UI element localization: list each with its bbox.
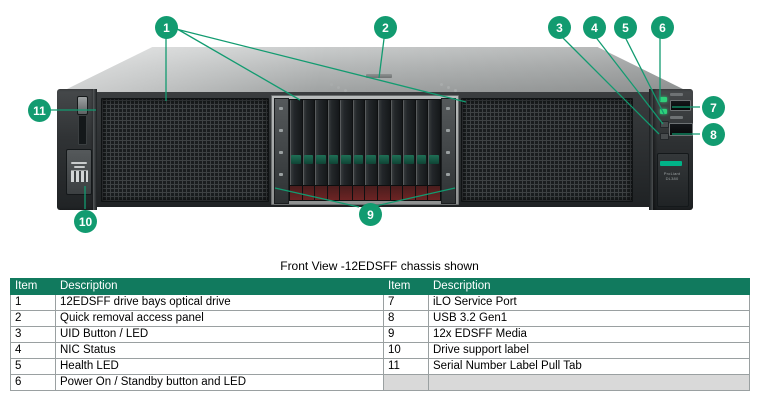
cell-desc-right: iLO Service Port <box>429 295 750 311</box>
callout-badge-3: 3 <box>548 16 571 39</box>
figure-caption: Front View -12EDSFF chassis shown <box>0 259 759 273</box>
cell-item-right: 7 <box>384 295 429 311</box>
cell-desc-right <box>429 375 750 391</box>
cell-item-right: 11 <box>384 359 429 375</box>
cell-desc-left: UID Button / LED <box>56 327 384 343</box>
cell-desc-left: Power On / Standby button and LED <box>56 375 384 391</box>
cell-desc-right: Drive support label <box>429 343 750 359</box>
table-row: 3UID Button / LED912x EDSFF Media <box>11 327 750 343</box>
callout-badge-6: 6 <box>651 16 674 39</box>
callout-badge-2: 2 <box>374 16 397 39</box>
callout-badge-8: 8 <box>702 123 725 146</box>
callout-badge-10: 10 <box>74 210 97 233</box>
cell-desc-right: 12x EDSFF Media <box>429 327 750 343</box>
legend-table: Item Description Item Description 112EDS… <box>10 278 750 391</box>
cell-desc-left: 12EDSFF drive bays optical drive <box>56 295 384 311</box>
table-row: 4NIC Status10Drive support label <box>11 343 750 359</box>
cell-desc-right: USB 3.2 Gen1 <box>429 311 750 327</box>
table-row: 6Power On / Standby button and LED <box>11 375 750 391</box>
cell-item-right: 9 <box>384 327 429 343</box>
cell-desc-left: Quick removal access panel <box>56 311 384 327</box>
cell-desc-right: Serial Number Label Pull Tab <box>429 359 750 375</box>
table-row: 112EDSFF drive bays optical drive7iLO Se… <box>11 295 750 311</box>
server-front-view-figure: ProLiant DL380 1234567 <box>0 0 759 250</box>
callout-badge-9: 9 <box>359 203 382 226</box>
cell-desc-left: Health LED <box>56 359 384 375</box>
table-header-row: Item Description Item Description <box>11 279 750 295</box>
callout-badge-5: 5 <box>614 16 637 39</box>
cell-item-left: 6 <box>11 375 56 391</box>
cell-item-left: 3 <box>11 327 56 343</box>
table-row: 5Health LED11Serial Number Label Pull Ta… <box>11 359 750 375</box>
cell-item-left: 4 <box>11 343 56 359</box>
cell-desc-left: NIC Status <box>56 343 384 359</box>
callout-badge-7: 7 <box>702 96 725 119</box>
header-item-right: Item <box>384 279 429 295</box>
cell-item-right: 8 <box>384 311 429 327</box>
cell-item-left: 5 <box>11 359 56 375</box>
callout-badge-1: 1 <box>155 16 178 39</box>
callout-badge-11: 11 <box>28 99 51 122</box>
table-row: 2Quick removal access panel8USB 3.2 Gen1 <box>11 311 750 327</box>
header-desc-left: Description <box>56 279 384 295</box>
cell-item-left: 1 <box>11 295 56 311</box>
header-desc-right: Description <box>429 279 750 295</box>
cell-item-left: 2 <box>11 311 56 327</box>
callout-badge-4: 4 <box>583 16 606 39</box>
legend-table-wrap: Item Description Item Description 112EDS… <box>10 278 749 391</box>
cell-item-right: 10 <box>384 343 429 359</box>
cell-item-right <box>384 375 429 391</box>
header-item-left: Item <box>11 279 56 295</box>
